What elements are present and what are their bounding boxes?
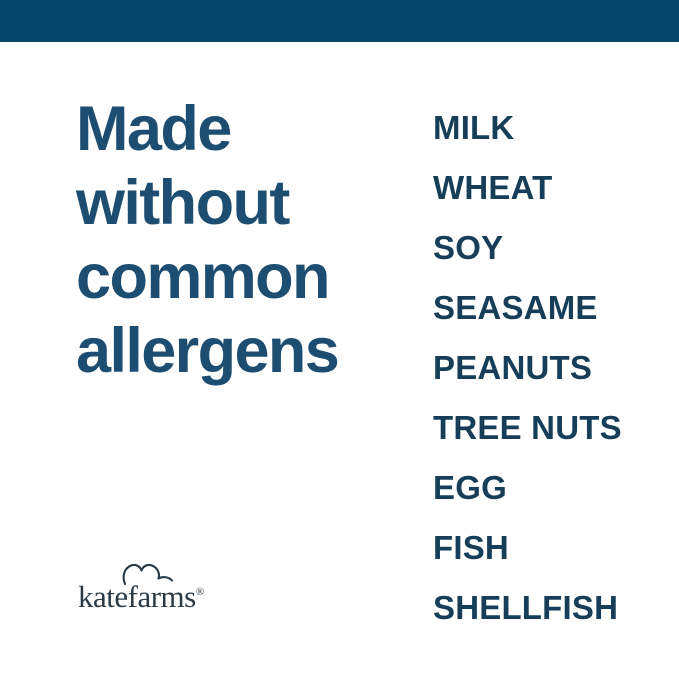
list-item: PEANUTS (433, 338, 663, 398)
brand-wordmark-text: katefarms (78, 579, 196, 614)
list-item: EGG (433, 458, 663, 518)
brand-wordmark: katefarms® (78, 579, 204, 615)
list-item: SOY (433, 218, 663, 278)
top-accent-band (0, 0, 679, 42)
list-item: SEASAME (433, 278, 663, 338)
headline-line-3: common (76, 240, 396, 314)
headline-line-2: without (76, 166, 396, 240)
headline-line-4: allergens (76, 314, 396, 388)
allergen-info-card: Made without common allergens MILK WHEAT… (0, 0, 679, 679)
list-item: MILK (433, 98, 663, 158)
registered-trademark-icon: ® (196, 586, 204, 598)
list-item: TREE NUTS (433, 398, 663, 458)
brand-logo: katefarms® (78, 563, 258, 613)
list-item: FISH (433, 518, 663, 578)
page-title: Made without common allergens (76, 92, 396, 388)
list-item: SHELLFISH (433, 578, 663, 638)
list-item: WHEAT (433, 158, 663, 218)
allergen-list: MILK WHEAT SOY SEASAME PEANUTS TREE NUTS… (433, 98, 663, 638)
headline-line-1: Made (76, 92, 396, 166)
